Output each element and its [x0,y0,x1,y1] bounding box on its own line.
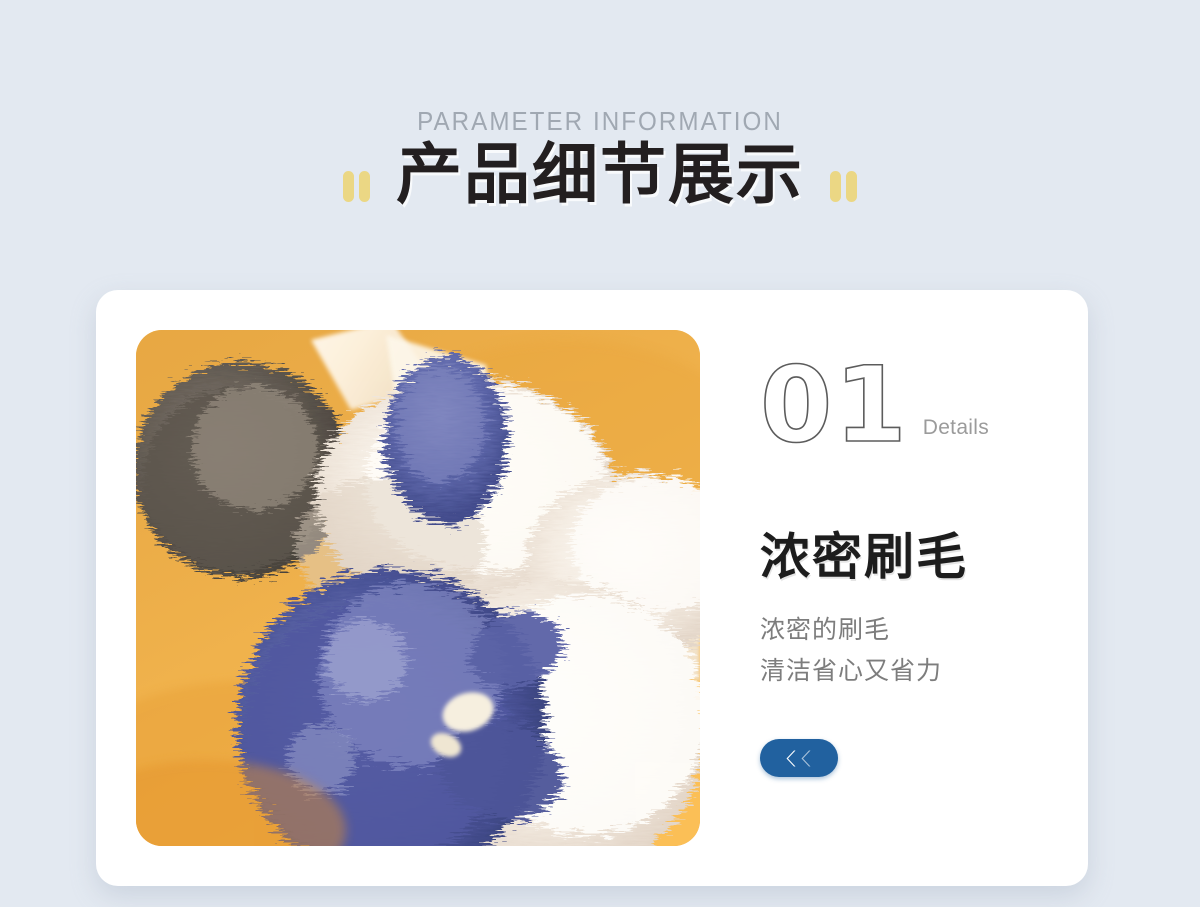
page-title: 产品细节展示 [396,142,804,208]
header-title-row: 产品细节展示 [0,142,1200,208]
chevron-left-icon [785,749,798,768]
detail-number-row: 01 Details [760,356,1060,452]
detail-info-column: 01 Details 浓密刷毛 浓密的刷毛 清洁省心又省力 [760,356,1060,777]
previous-button[interactable] [760,739,838,777]
chevron-left-secondary-icon [800,749,813,768]
product-photo [136,330,700,846]
detail-card: 01 Details 浓密刷毛 浓密的刷毛 清洁省心又省力 [96,290,1088,886]
quote-mark-left-icon [343,171,370,202]
detail-subtitle-line-2: 清洁省心又省力 [760,651,1060,692]
detail-number-label: Details [923,416,989,452]
detail-number: 01 [760,360,909,452]
quote-mark-right-icon [830,171,857,202]
detail-headline: 浓密刷毛 [760,530,1060,584]
detail-subtitle: 浓密的刷毛 清洁省心又省力 [760,610,1060,691]
header-eyebrow: PARAMETER INFORMATION [42,106,1158,137]
page-header: PARAMETER INFORMATION 产品细节展示 [0,0,1200,270]
detail-subtitle-line-1: 浓密的刷毛 [760,610,1060,651]
